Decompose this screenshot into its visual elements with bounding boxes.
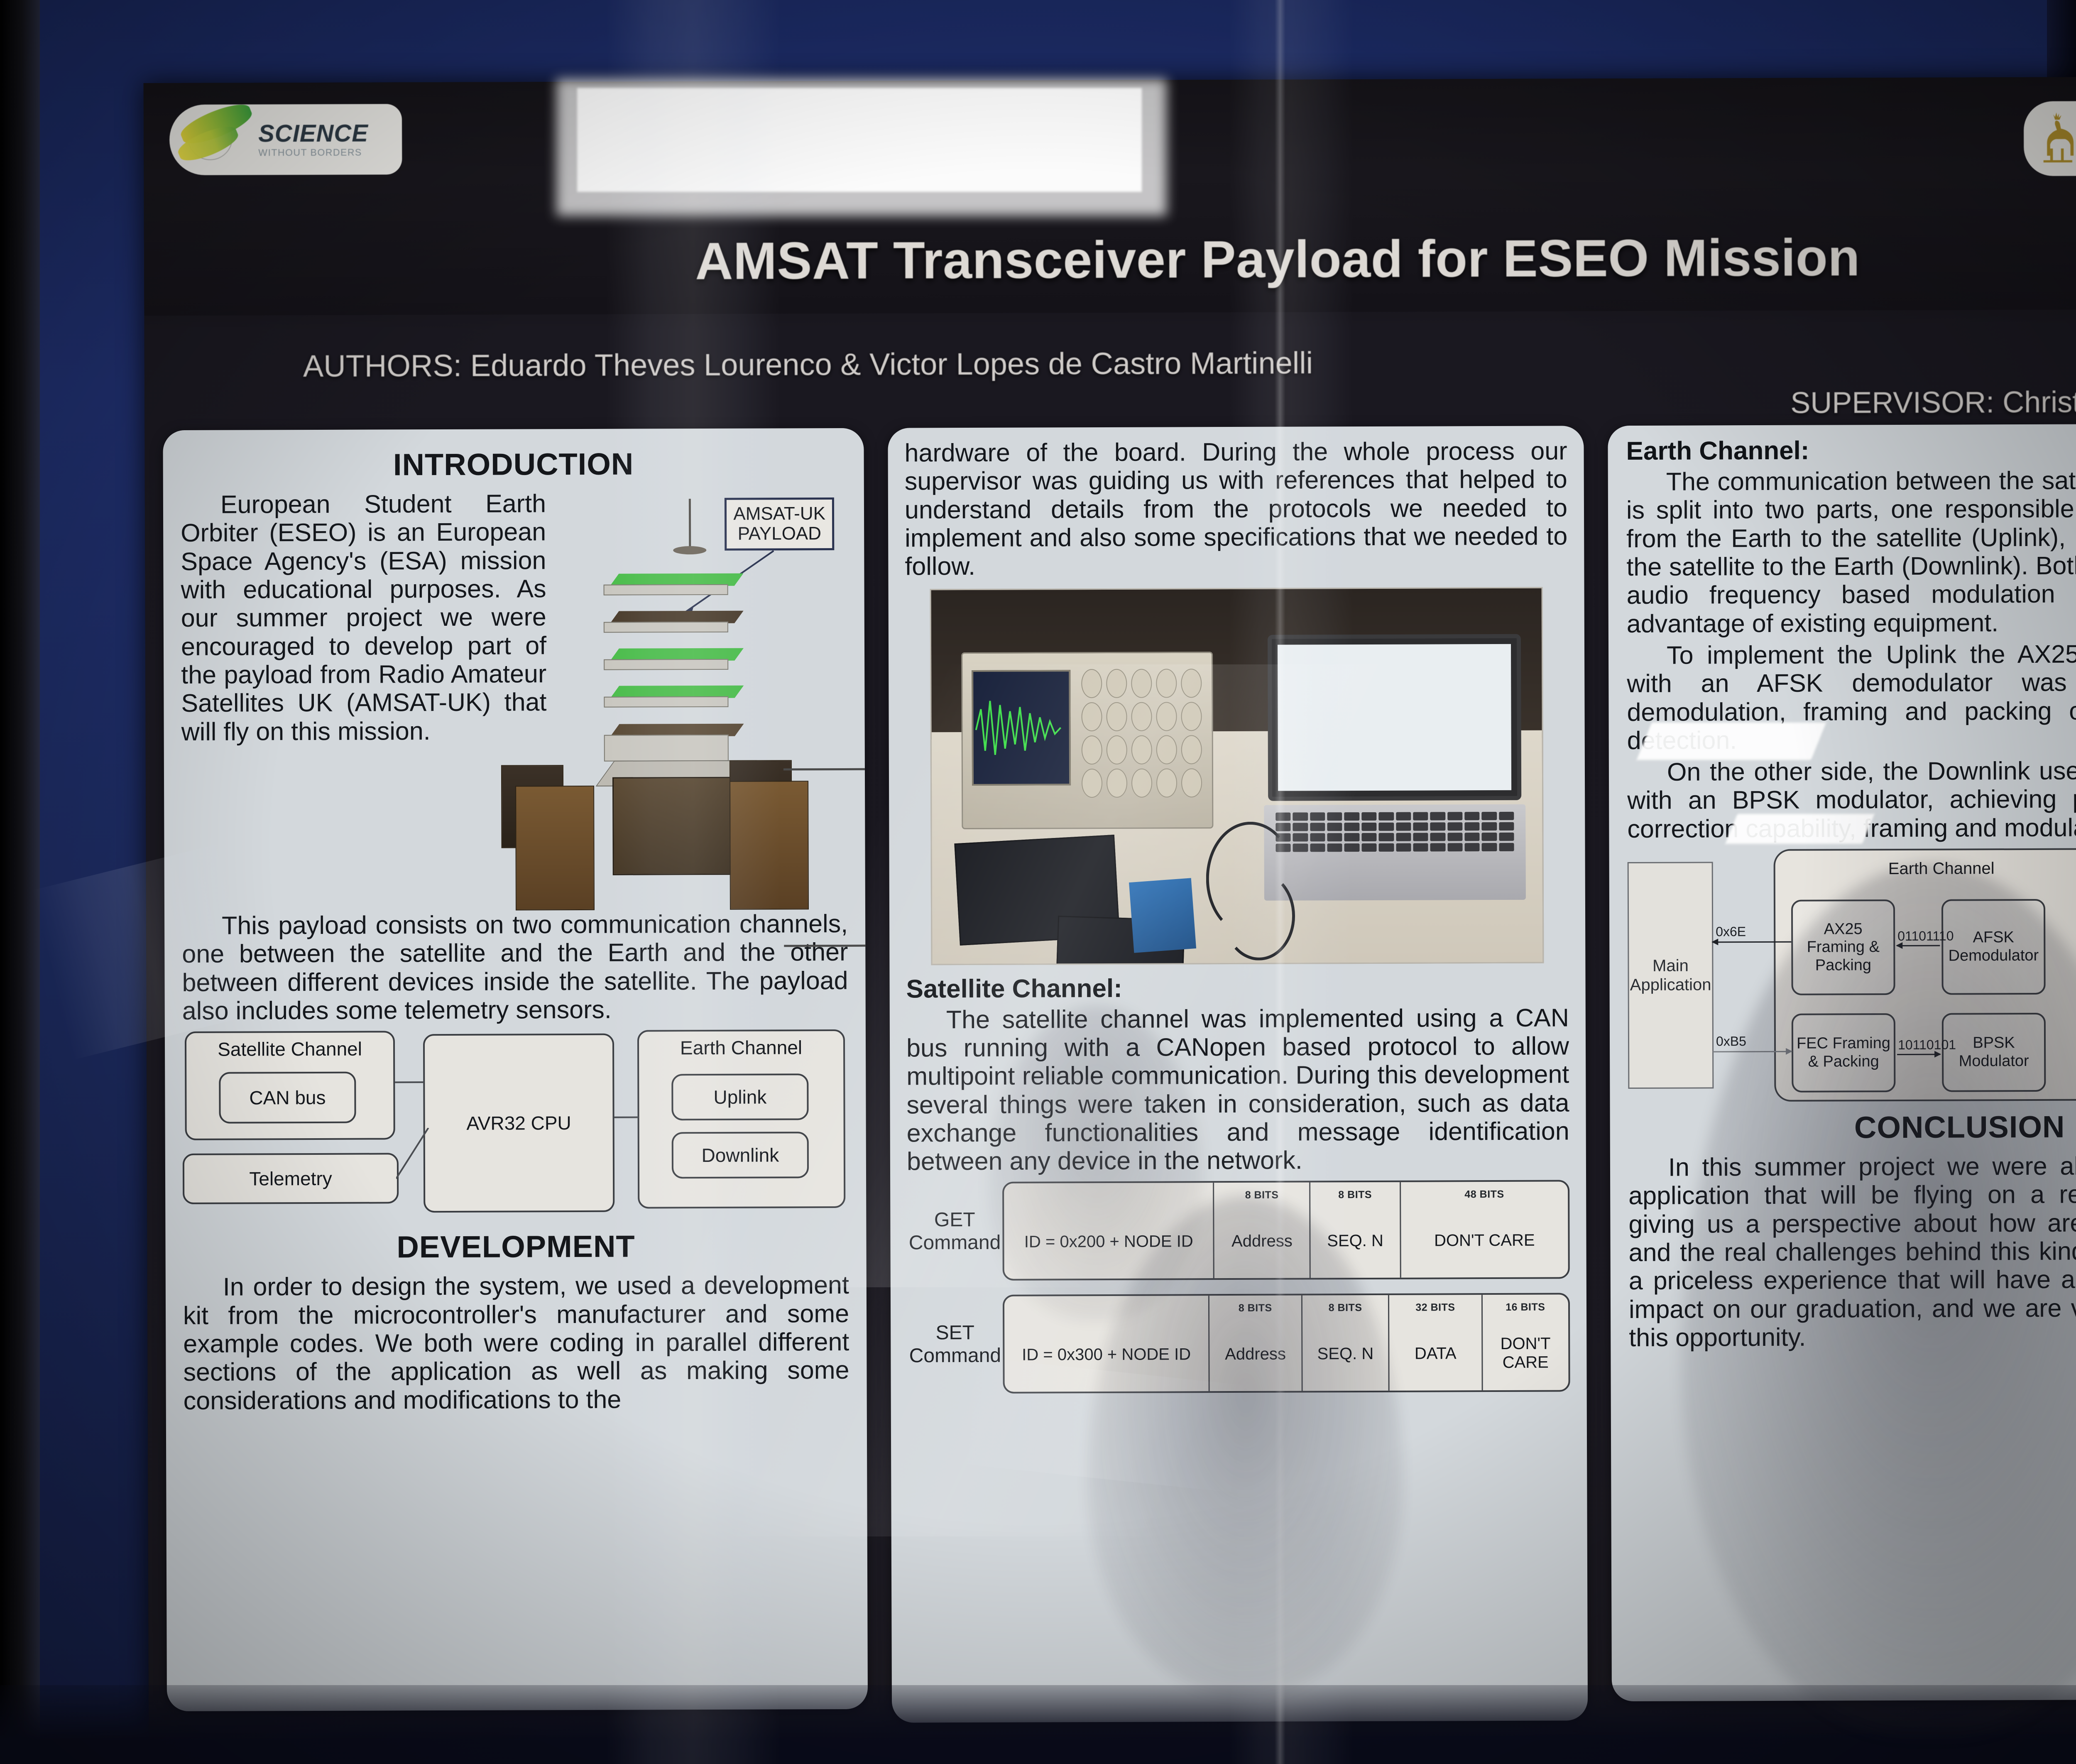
table-cell: 8 BITS SEQ. N xyxy=(1310,1182,1401,1278)
oscilloscope xyxy=(961,652,1213,829)
block-can-bus: CAN bus xyxy=(219,1072,356,1124)
tray-5 xyxy=(601,724,754,747)
cell-value: Address xyxy=(1225,1345,1286,1364)
label-downlink-byte: 0xB5 xyxy=(1716,1034,1746,1049)
globe-icon xyxy=(177,108,256,171)
conclusion-paragraph: In this summer project we were able do d… xyxy=(1628,1151,2076,1352)
wall-left-edge xyxy=(0,0,40,1764)
cell-bits: 8 BITS xyxy=(1302,1302,1388,1314)
cell-bits xyxy=(1004,1303,1208,1303)
cell-value: DON'T CARE xyxy=(1434,1231,1535,1250)
logo-text-without-borders: WITHOUT BORDERS xyxy=(258,148,368,158)
cell-bits: 8 BITS xyxy=(1310,1189,1399,1201)
arrow-ax25-to-main xyxy=(1712,941,1791,943)
cell-value: DON'T CARE xyxy=(1485,1335,1566,1372)
cell-bits: 48 BITS xyxy=(1401,1188,1568,1201)
satellite-exploded-figure: AMSAT-UK PAYLOAD xyxy=(550,494,838,910)
get-label-line2: Command xyxy=(907,1231,1002,1254)
diagram-bpsk-block: BPSK Modulator xyxy=(1942,1013,2046,1092)
block-downlink: Downlink xyxy=(672,1132,809,1178)
poster-columns: INTRODUCTION European Student Earth Orbi… xyxy=(144,424,2076,1730)
get-label-line1: GET xyxy=(907,1208,1002,1232)
research-poster: SCIENCE WITHOUT BORDERS xyxy=(144,76,2076,1740)
arrow-afsk-to-ax25 xyxy=(1897,945,1940,946)
earth-channel-paragraph-3: On the other side, the Downlink used an … xyxy=(1627,756,2076,843)
payload-block-diagram: Satellite Channel CAN bus Telemetry AVR3… xyxy=(182,1027,849,1224)
block-satellite-channel-label: Satellite Channel xyxy=(186,1038,393,1061)
tray-2 xyxy=(600,611,754,634)
cell-bits: 8 BITS xyxy=(1214,1189,1310,1202)
table-cell: 16 BITS DON'T CARE xyxy=(1483,1295,1569,1391)
table-cell: 8 BITS Address xyxy=(1209,1296,1302,1392)
introduction-paragraph-2: This payload consists on two communicati… xyxy=(182,909,848,1025)
structure-frame xyxy=(783,768,868,947)
introduction-title: INTRODUCTION xyxy=(181,446,847,483)
table-cell: 32 BITS DATA xyxy=(1389,1295,1483,1391)
science-without-borders-logo: SCIENCE WITHOUT BORDERS xyxy=(169,104,402,175)
cell-value: ID = 0x200 + NODE ID xyxy=(1024,1232,1193,1251)
tray-4 xyxy=(600,686,754,708)
earth-channel-paragraph-1: The communication between the satellite … xyxy=(1626,465,2076,638)
wire-cpu-earth xyxy=(614,1117,639,1118)
diagram-fec-block: FEC Framing & Packing xyxy=(1792,1013,1896,1093)
block-avr32-cpu: AVR32 CPU xyxy=(423,1034,614,1213)
conclusion-title: CONCLUSION xyxy=(1628,1108,2076,1146)
satellite-channel-heading: Satellite Channel: xyxy=(906,972,1569,1004)
table-cell: 8 BITS SEQ. N xyxy=(1302,1295,1390,1391)
get-command-row: GET Command ID = 0x200 + NODE ID 8 BITS xyxy=(907,1180,1570,1281)
table-cell: ID = 0x200 + NODE ID xyxy=(1004,1183,1214,1279)
block-earth-channel-label: Earth Channel xyxy=(639,1036,843,1059)
label-uplink-byte: 0x6E xyxy=(1716,924,1746,939)
solar-panel-left xyxy=(515,786,595,911)
diagram-main-application: Main Application xyxy=(1628,862,1714,1089)
diagram-earth-channel-title: Earth Channel xyxy=(1775,859,2076,879)
bits-downlink-label: 10110101 xyxy=(1898,1037,1956,1053)
set-command-row: SET Command ID = 0x300 + NODE ID 8 BITS xyxy=(907,1293,1570,1394)
payload-stack xyxy=(600,544,783,777)
stag-icon xyxy=(2034,112,2076,166)
arrow-main-to-fec xyxy=(1713,1051,1792,1053)
cell-bits: 16 BITS xyxy=(1483,1301,1568,1314)
antenna-mast-icon xyxy=(689,499,691,549)
callout-line-1: AMSAT-UK xyxy=(733,504,825,524)
cell-value: Address xyxy=(1231,1232,1293,1251)
laptop-base xyxy=(1264,804,1526,900)
table-cell: 48 BITS DON'T CARE xyxy=(1401,1182,1568,1278)
page-title: AMSAT Transceiver Payload for ESEO Missi… xyxy=(551,227,2004,292)
block-telemetry: Telemetry xyxy=(183,1153,399,1205)
development-paragraph: In order to design the system, we used a… xyxy=(183,1271,849,1415)
callout-line-2: PAYLOAD xyxy=(733,524,825,544)
oscilloscope-knobs xyxy=(1077,664,1206,802)
column-left: INTRODUCTION European Student Earth Orbi… xyxy=(163,428,868,1711)
block-uplink: Uplink xyxy=(671,1073,808,1120)
lab-bench-photo xyxy=(930,587,1544,965)
amsat-payload-callout: AMSAT-UK PAYLOAD xyxy=(725,497,834,551)
cell-bits xyxy=(1004,1190,1213,1191)
development-continuation: hardware of the board. During the whole … xyxy=(904,436,1567,581)
blue-module xyxy=(1129,878,1196,953)
logo-text-science: SCIENCE xyxy=(258,122,368,146)
satellite-channel-paragraph: The satellite channel was implemented us… xyxy=(906,1003,1569,1176)
earth-channel-heading: Earth Channel: xyxy=(1626,434,2076,466)
set-label-line1: SET xyxy=(907,1321,1003,1345)
set-command-label: SET Command xyxy=(907,1321,1003,1367)
cell-value: DATA xyxy=(1415,1344,1457,1363)
column-middle: hardware of the board. During the whole … xyxy=(888,426,1588,1722)
antenna-disc-icon xyxy=(673,546,706,554)
university-of-surrey-logo: UNIVERSITY OF SURREY xyxy=(2024,100,2076,176)
cell-value: ID = 0x300 + NODE ID xyxy=(1022,1345,1191,1364)
photo-scene: SCIENCE WITHOUT BORDERS xyxy=(0,0,2076,1764)
wall-bottom-edge xyxy=(0,1685,2076,1764)
arrow-fec-to-bpsk xyxy=(1897,1054,1940,1055)
supervisor-line: SUPERVISOR: Christopher P. Bridges xyxy=(1790,385,2076,420)
diagram-ax25-block: AX25 Framing & Packing xyxy=(1791,899,1895,995)
earth-channel-diagram: Main Application Earth Channel AX25 Fram… xyxy=(1628,845,2076,1105)
oscilloscope-screen xyxy=(972,670,1071,786)
get-command-frame: ID = 0x200 + NODE ID 8 BITS Address 8 BI… xyxy=(1002,1180,1570,1281)
bus-body xyxy=(612,777,740,875)
cable-2 xyxy=(1223,871,1295,960)
column-right: Earth Channel: The communication between… xyxy=(1608,424,2076,1701)
set-command-frame: ID = 0x300 + NODE ID 8 BITS Address 8 BI… xyxy=(1003,1293,1570,1394)
bits-uplink-label: 01101110 xyxy=(1897,929,1954,944)
table-cell: 8 BITS Address xyxy=(1214,1183,1311,1279)
introduction-paragraph-1: European Student Earth Orbiter (ESEO) is… xyxy=(181,489,547,746)
tray-3 xyxy=(600,648,754,671)
poster-header: SCIENCE WITHOUT BORDERS xyxy=(144,76,2076,415)
laptop-keyboard xyxy=(1275,811,1514,875)
laptop xyxy=(1263,634,1526,900)
cell-value: SEQ. N xyxy=(1317,1345,1374,1363)
laptop-screen xyxy=(1278,644,1511,791)
laptop-lid xyxy=(1268,634,1521,801)
table-cell: ID = 0x300 + NODE ID xyxy=(1004,1296,1209,1392)
wire-telemetry-cpu xyxy=(396,1128,429,1182)
diagram-earth-channel-group: Earth Channel AX25 Framing & Packing AFS… xyxy=(1774,848,2076,1102)
cell-value: SEQ. N xyxy=(1327,1232,1383,1250)
authors-line: AUTHORS: Eduardo Theves Lourenco & Victo… xyxy=(303,345,1313,384)
diagram-afsk-block: AFSK Demodulator xyxy=(1941,899,2046,995)
can-message-tables: GET Command ID = 0x200 + NODE ID 8 BITS xyxy=(907,1180,1570,1394)
development-title: DEVELOPMENT xyxy=(183,1228,849,1265)
cell-bits: 32 BITS xyxy=(1389,1302,1481,1314)
cell-bits: 8 BITS xyxy=(1209,1302,1301,1315)
tray-1 xyxy=(600,573,754,596)
earth-channel-paragraph-2: To implement the Uplink the AX25 protoco… xyxy=(1627,639,2076,755)
get-command-label: GET Command xyxy=(907,1208,1002,1254)
wire-satch-cpu xyxy=(395,1081,424,1083)
set-label-line2: Command xyxy=(907,1344,1003,1367)
